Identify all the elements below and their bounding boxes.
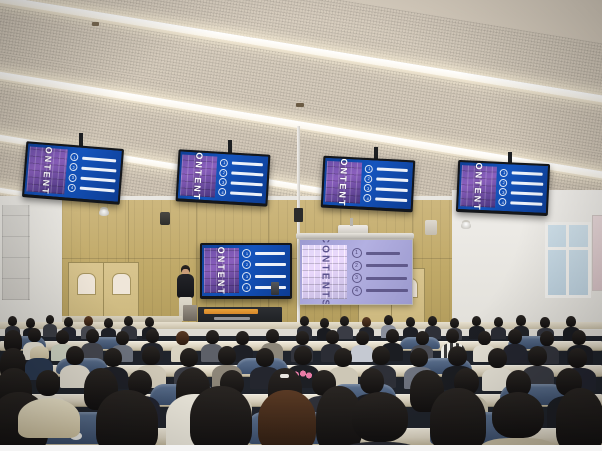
slide-bullet: 3: [242, 272, 286, 281]
front-equipment: [183, 305, 197, 321]
slide-image-panel: CONTENTS: [458, 162, 499, 211]
slide-bullet: 4: [218, 188, 262, 199]
slide-contents: CONTENTS 1 2 3 4: [458, 162, 548, 213]
slide-bullet: 2: [365, 174, 409, 184]
audience-member-foreground: [96, 390, 158, 451]
audience-member: [494, 317, 506, 339]
audience-member-foreground: [258, 390, 316, 451]
wall-speaker: [160, 212, 170, 225]
slide-bullet: 2: [352, 261, 408, 271]
audience-member-foreground-cap: [18, 398, 80, 438]
bottom-bar: [0, 445, 602, 451]
projector-mount: [350, 218, 353, 226]
wall-speaker: [425, 220, 437, 235]
audience-member-foreground: [352, 392, 419, 451]
slide-contents: CONTENTS 1 2 3 4: [178, 151, 269, 203]
dome-camera-icon: [461, 222, 471, 229]
ceiling-sensor: [92, 22, 99, 26]
slide-bullet: 4: [68, 183, 116, 195]
slide-bullet: 3: [352, 273, 408, 283]
ceiling-tv-2: CONTENTS 1 2 3 4: [176, 149, 271, 206]
ceiling-vent: [296, 103, 304, 107]
audience-member-foreground: [492, 392, 555, 451]
slide-bullets: 1 2 3 4: [362, 160, 414, 210]
door-window: [112, 273, 131, 295]
lecture-hall-photo: CONTENTS 1 2 3 4 CONTENTS 1: [0, 0, 602, 451]
slide-bullet: 4: [352, 286, 408, 296]
door-window: [77, 273, 96, 295]
slide-bullet: 1: [220, 159, 264, 170]
projection-screen-right: CONTENTS 1 2 3 4: [299, 239, 413, 305]
display-control-panel[interactable]: [271, 282, 279, 295]
slide-bullet: 4: [499, 198, 543, 208]
slide-bullet: 1: [352, 248, 408, 258]
slide-heading: CONTENTS: [216, 245, 226, 296]
podium-text: [214, 317, 250, 320]
slide-image-panel: CONTENTS: [300, 240, 349, 304]
podium-banner: [204, 309, 258, 314]
slide-bullet: 1: [242, 249, 286, 258]
slide-contents: CONTENTS 1 2 3 4: [24, 143, 122, 201]
ceiling-tv-4: CONTENTS 1 2 3 4: [456, 160, 550, 216]
audience-member-foreground: [190, 386, 252, 451]
slide-bullets: 1 2 3 4: [241, 245, 290, 296]
slide-bullet: 2: [500, 178, 544, 188]
dome-camera-icon: [99, 209, 109, 216]
audience-member-foreground: [430, 388, 486, 451]
slide-image-panel: CONTENTS: [323, 158, 364, 207]
slide-bullet: 3: [364, 184, 408, 194]
slide-image-panel: CONTENTS: [24, 143, 69, 197]
slide-bullet: 1: [500, 169, 544, 179]
slide-bullet: 2: [220, 168, 264, 179]
slide-bullets: 1 2 3 4: [216, 154, 268, 204]
slide-contents: CONTENTS 1 2 3 4: [323, 158, 413, 210]
slide-bullets: 1 2 3 4: [349, 240, 412, 304]
pole-bracket: [294, 208, 303, 222]
slide-bullet: 4: [364, 194, 408, 204]
slide-bullet: 3: [219, 178, 263, 189]
slide-image-panel: CONTENTS: [202, 245, 241, 296]
slide-bullet: 2: [242, 260, 286, 269]
audience-member: [356, 331, 373, 362]
slide-heading: CONTENTS: [319, 240, 330, 304]
slide-bullet: 1: [365, 165, 409, 175]
slide-contents: CONTENTS 1 2 3 4: [300, 240, 412, 304]
baseball-cap: [18, 398, 80, 438]
ceiling-tv-3: CONTENTS 1 2 3 4: [321, 156, 416, 213]
presenter-torso: [177, 274, 194, 298]
acoustic-panel-left: [2, 205, 30, 300]
side-window: [545, 222, 591, 298]
slide-bullets: 1 2 3 4: [497, 164, 548, 213]
slide-bullet: 3: [499, 188, 543, 198]
slide-image-panel: CONTENTS: [178, 151, 219, 200]
slide-bullets: 1 2 3 4: [65, 147, 122, 202]
ceiling-tv-1: CONTENTS 1 2 3 4: [22, 141, 124, 205]
wall-poster: [592, 215, 602, 291]
audience-member-foreground: [556, 388, 602, 451]
slide-bullet: 4: [242, 283, 286, 292]
